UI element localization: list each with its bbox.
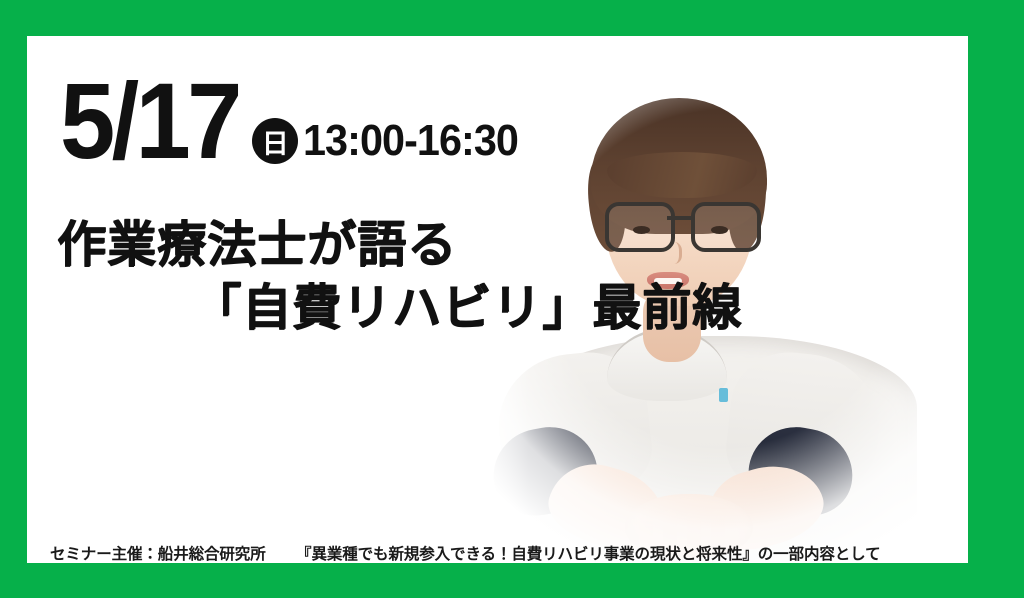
seminar-banner: 5/17 日 13:00-16:30 作業療法士が語る 「自費リハビリ」最前線 … <box>0 0 1024 598</box>
text-layer: 5/17 日 13:00-16:30 作業療法士が語る 「自費リハビリ」最前線 … <box>27 36 968 563</box>
footer-note: セミナー主催：船井総合研究所 『異業種でも新規参入できる！自費リハビリ事業の現状… <box>50 542 950 563</box>
banner-card: 5/17 日 13:00-16:30 作業療法士が語る 「自費リハビリ」最前線 … <box>27 36 968 563</box>
headline-line-1: 作業療法士が語る <box>57 214 757 277</box>
weekday-badge: 日 <box>252 118 298 164</box>
date-row: 5/17 日 13:00-16:30 <box>60 58 532 170</box>
event-time-range: 13:00-16:30 <box>303 116 518 166</box>
footer-host: セミナー主催：船井総合研究所 <box>50 546 266 563</box>
headline: 作業療法士が語る 「自費リハビリ」最前線 <box>57 214 757 339</box>
footer-reference: 『異業種でも新規参入できる！自費リハビリ事業の現状と将来性』の一部内容として <box>296 546 880 563</box>
event-date: 5/17 <box>60 71 239 170</box>
headline-line-2: 「自費リハビリ」最前線 <box>57 277 757 340</box>
